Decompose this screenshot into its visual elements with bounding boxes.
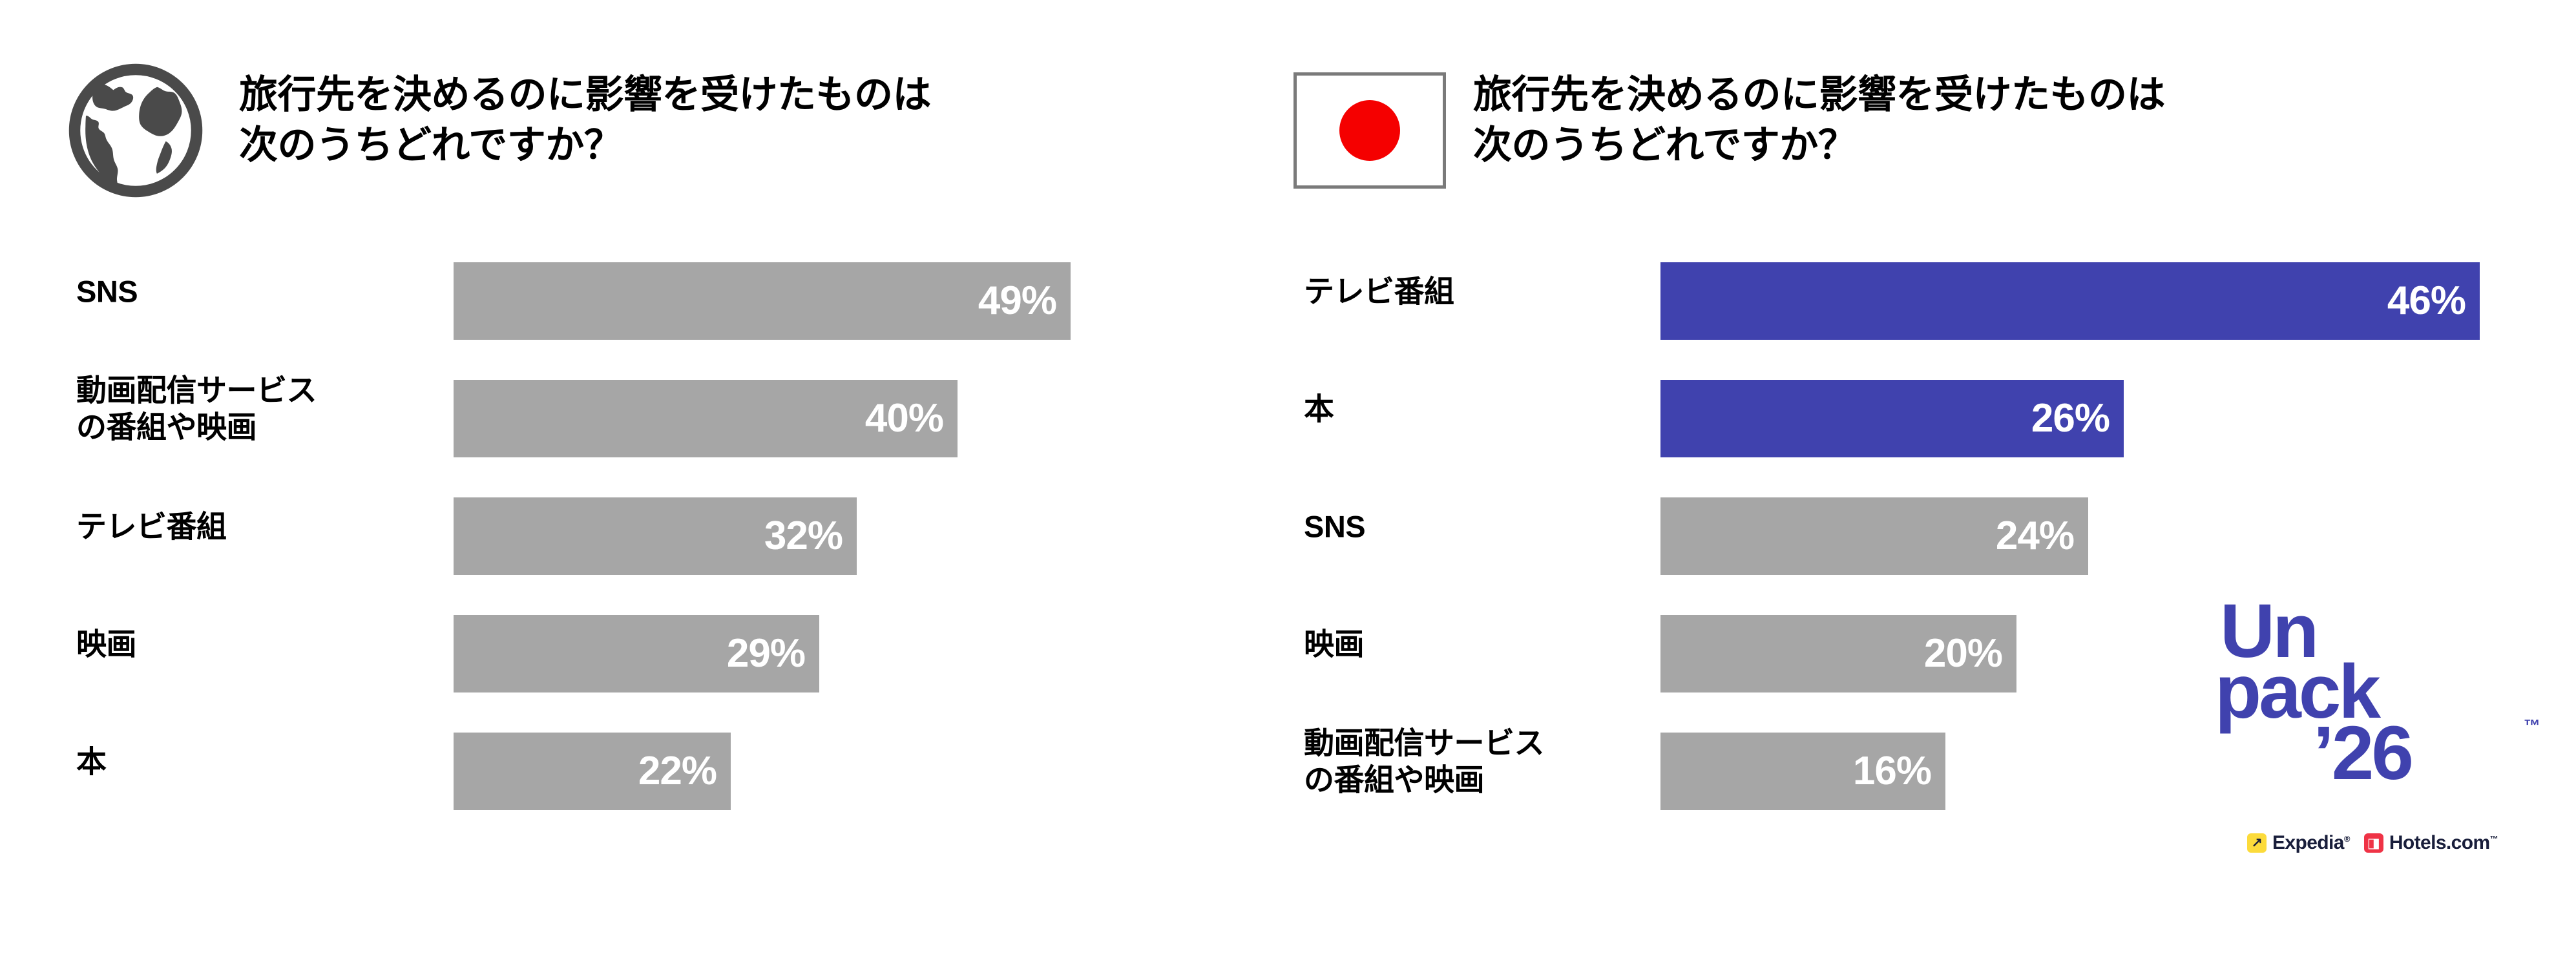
unpack-26-logo: Un pack ’26™ xyxy=(2215,601,2518,784)
panel-global-header: 旅行先を決めるのに影響を受けたものは 次のうちどれですか？ xyxy=(59,54,931,207)
chart-row: テレビ番組 46% xyxy=(1286,233,2576,350)
chart-row: SNS 49% xyxy=(0,233,1286,350)
panel-japan-header: 旅行先を決めるのに影響を受けたものは 次のうちどれですか？ xyxy=(1293,54,2165,207)
category-label: 動画配信サービス の番組や映画 xyxy=(76,372,438,446)
expedia-tm: ® xyxy=(2344,834,2350,844)
category-label: テレビ番組 xyxy=(76,508,438,545)
bar-global-4: 22% xyxy=(454,733,731,810)
category-label: 映画 xyxy=(76,625,438,662)
expedia-name: Expedia xyxy=(2272,832,2344,853)
expedia-wordmark: Expedia® xyxy=(2272,832,2350,854)
flag-rectangle xyxy=(1293,72,1446,189)
category-label: 本 xyxy=(76,743,438,780)
bar-japan-2: 24% xyxy=(1660,497,2088,575)
bar-value: 32% xyxy=(764,516,857,556)
globe-icon xyxy=(59,54,212,207)
bar-global-0: 49% xyxy=(454,262,1071,340)
panel-japan: 旅行先を決めるのに影響を受けたものは 次のうちどれですか？ テレビ番組 46% … xyxy=(1286,0,2576,958)
category-label: 映画 xyxy=(1304,625,1640,662)
bar-value: 29% xyxy=(727,634,819,674)
hotels-door-icon: ◨ xyxy=(2364,833,2383,853)
category-label: 動画配信サービス の番組や映画 xyxy=(1304,725,1640,799)
japan-flag-icon xyxy=(1293,54,1446,207)
expedia-arrow-glyph: ↗ xyxy=(2247,833,2267,853)
bar-value: 24% xyxy=(1996,516,2088,556)
expedia-arrow-icon: ↗ xyxy=(2247,833,2267,853)
panel-japan-title: 旅行先を決めるのに影響を受けたものは 次のうちどれですか？ xyxy=(1473,54,2165,171)
bar-value: 26% xyxy=(2031,399,2124,439)
bar-japan-0: 46% xyxy=(1660,262,2480,340)
chart-row: 本 26% xyxy=(1286,350,2576,468)
chart-row: 動画配信サービス の番組や映画 40% xyxy=(0,350,1286,468)
bar-global-1: 40% xyxy=(454,380,958,457)
hotels-name: Hotels.com xyxy=(2389,832,2490,853)
panel-global-title: 旅行先を決めるのに影響を受けたものは 次のうちどれですか？ xyxy=(239,54,931,171)
logo-line-26: ’26™ xyxy=(2313,723,2518,784)
hotels-wordmark: Hotels.com™ xyxy=(2389,832,2498,854)
chart-row: 本 22% xyxy=(0,703,1286,820)
bar-japan-3: 20% xyxy=(1660,615,2016,692)
bar-value: 20% xyxy=(1924,634,2016,674)
brand-row: ↗ Expedia® ◨ Hotels.com™ xyxy=(2247,832,2498,854)
bar-value: 16% xyxy=(1853,751,1945,791)
chart-row: 映画 29% xyxy=(0,585,1286,703)
bar-value: 40% xyxy=(865,399,958,439)
bar-global-3: 29% xyxy=(454,615,819,692)
bar-global-2: 32% xyxy=(454,497,857,575)
panel-global: 旅行先を決めるのに影響を受けたものは 次のうちどれですか？ SNS 49% 動画… xyxy=(0,0,1286,958)
trademark-symbol: ™ xyxy=(2524,719,2540,733)
category-label: SNS xyxy=(1304,508,1640,545)
category-label: SNS xyxy=(76,273,438,309)
bar-value: 46% xyxy=(2387,281,2480,321)
hotels-tm: ™ xyxy=(2490,834,2498,844)
bar-japan-4: 16% xyxy=(1660,733,1945,810)
brand-expedia: ↗ Expedia® xyxy=(2247,832,2350,854)
flag-red-disc xyxy=(1339,100,1400,161)
logo-26-text: ’26 xyxy=(2313,711,2411,796)
chart-row: テレビ番組 32% xyxy=(0,468,1286,585)
category-label: 本 xyxy=(1304,390,1640,427)
bar-value: 22% xyxy=(638,751,731,791)
brand-hotels: ◨ Hotels.com™ xyxy=(2364,832,2498,854)
bar-value: 49% xyxy=(978,281,1071,321)
hotels-door-glyph: ◨ xyxy=(2364,833,2383,853)
category-label: テレビ番組 xyxy=(1304,273,1640,309)
bar-japan-1: 26% xyxy=(1660,380,2124,457)
chart-global: SNS 49% 動画配信サービス の番組や映画 40% テレビ番組 32% 映画… xyxy=(0,233,1286,820)
chart-row: SNS 24% xyxy=(1286,468,2576,585)
